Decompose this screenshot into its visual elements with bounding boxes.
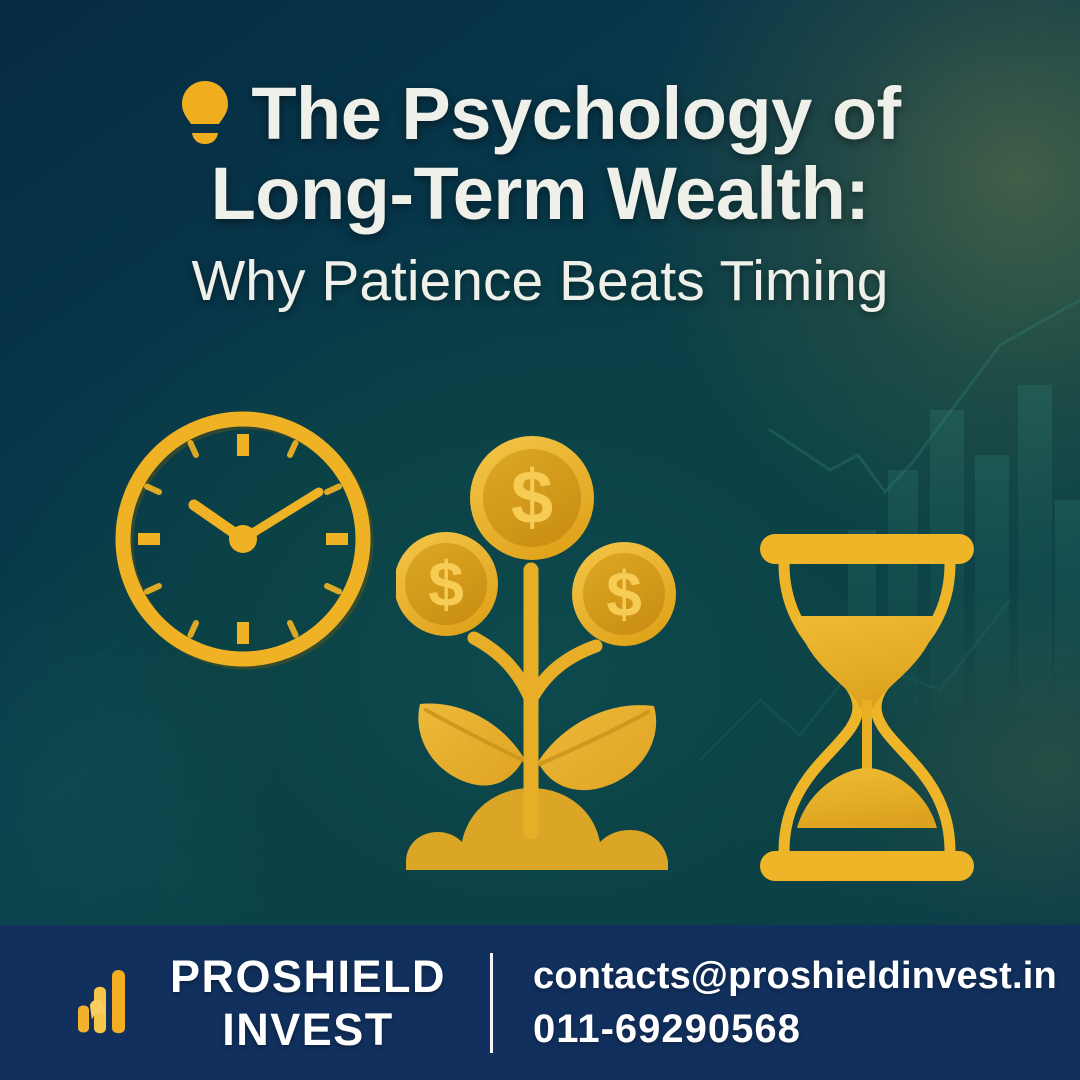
title-line-1-row: The Psychology of: [52, 74, 1028, 154]
contact-block: contacts@proshieldinvest.in 011-69290568: [533, 957, 1057, 1049]
brand-block: PROSHIELD INVEST: [70, 954, 446, 1052]
coin-top: $: [470, 436, 594, 560]
headline-subtitle: Why Patience Beats Timing: [52, 250, 1028, 313]
coin-left: $: [396, 532, 498, 636]
coin-left-symbol: $: [428, 548, 464, 620]
title-line-2: Long-Term Wealth:: [52, 154, 1028, 234]
headline-block: The Psychology of Long-Term Wealth: Why …: [0, 74, 1080, 313]
coin-right-symbol: $: [606, 558, 642, 630]
brand-name-bottom: INVEST: [222, 1007, 394, 1052]
plant-leaf-left: [418, 704, 524, 786]
footer-bar: PROSHIELD INVEST contacts@proshieldinves…: [0, 925, 1080, 1080]
illustration-group: $ $ $: [0, 370, 1080, 910]
clock-icon: [112, 408, 374, 670]
contact-email[interactable]: contacts@proshieldinvest.in: [533, 957, 1057, 995]
plant-leaf-right: [538, 705, 656, 790]
hourglass-sand-stream: [862, 700, 872, 770]
hourglass-top-cap: [760, 534, 974, 564]
title-line-1-text: The Psychology of: [251, 74, 900, 154]
hourglass-bottom-cap: [760, 851, 974, 881]
plant-branch-left: [474, 638, 531, 700]
proshield-chart-logo-icon: [70, 962, 148, 1044]
coin-right: $: [572, 542, 676, 646]
hourglass-sand-bottom: [797, 768, 937, 828]
lightbulb-icon: [179, 79, 231, 145]
brand-name-top: PROSHIELD: [170, 954, 446, 999]
hourglass-icon: [742, 530, 992, 885]
clock-center-pin: [229, 525, 257, 553]
hourglass-sand-top: [797, 616, 937, 708]
brand-name-block: PROSHIELD INVEST: [170, 954, 446, 1052]
poster-canvas: The Psychology of Long-Term Wealth: Why …: [0, 0, 1080, 1080]
coin-top-symbol: $: [511, 456, 553, 541]
money-plant-icon: $ $ $: [396, 370, 726, 880]
plant-branch-right: [531, 646, 596, 700]
contact-phone[interactable]: 011-69290568: [533, 1009, 1057, 1049]
clock-hands: [194, 492, 319, 539]
footer-divider: [490, 953, 493, 1053]
